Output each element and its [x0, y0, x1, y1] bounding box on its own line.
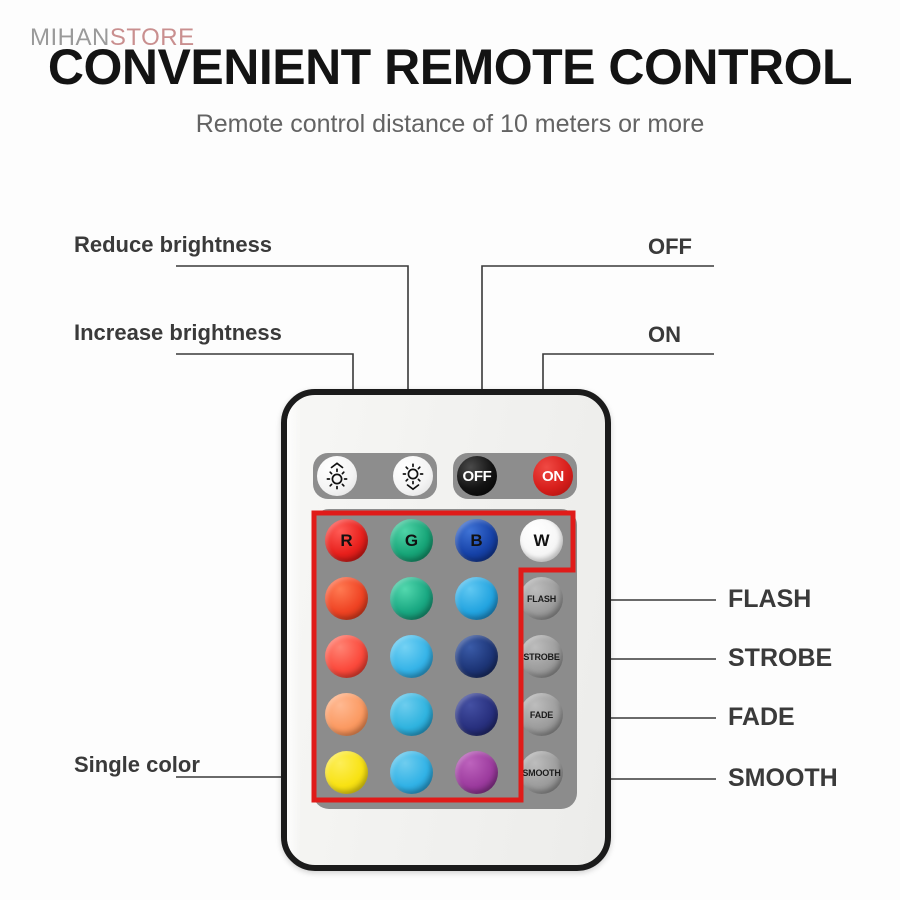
- color-button-b[interactable]: B: [455, 519, 498, 562]
- color-grid-key-r1c1[interactable]: [325, 577, 368, 620]
- function-button-flash[interactable]: FLASH: [520, 577, 563, 620]
- callout-smooth: SMOOTH: [728, 764, 838, 793]
- color-grid-key-r4c2[interactable]: [390, 751, 433, 794]
- remote-control-body: OFF ON R G B W FLASH STROBE FADE SMOOTH: [281, 389, 611, 871]
- callout-increase-brightness: Increase brightness: [74, 320, 282, 346]
- function-button-flash-label: FLASH: [527, 594, 556, 604]
- power-off-label: OFF: [462, 468, 491, 485]
- page-title: CONVENIENT REMOTE CONTROL: [0, 42, 900, 92]
- color-grid-key-r4c3[interactable]: [455, 751, 498, 794]
- function-button-strobe[interactable]: STROBE: [520, 635, 563, 678]
- brightness-down-button[interactable]: [393, 456, 433, 496]
- function-button-smooth[interactable]: SMOOTH: [520, 751, 563, 794]
- callout-strobe: STROBE: [728, 644, 832, 673]
- callout-reduce-brightness: Reduce brightness: [74, 232, 272, 258]
- power-on-button[interactable]: ON: [533, 456, 573, 496]
- color-button-w[interactable]: W: [520, 519, 563, 562]
- power-button-pod: OFF ON: [453, 453, 577, 499]
- brightness-button-pod: [313, 453, 437, 499]
- power-off-button[interactable]: OFF: [457, 456, 497, 496]
- sun-up-icon: [322, 461, 352, 491]
- color-grid-key-r2c3[interactable]: [455, 635, 498, 678]
- color-grid-key-r2c2[interactable]: [390, 635, 433, 678]
- color-button-g-label: G: [405, 531, 418, 551]
- callout-flash: FLASH: [728, 585, 811, 614]
- color-button-r-label: R: [340, 531, 352, 551]
- page-subtitle: Remote control distance of 10 meters or …: [0, 110, 900, 139]
- keypad-panel: R G B W FLASH STROBE FADE SMOOTH: [313, 509, 577, 809]
- color-grid-key-r1c2[interactable]: [390, 577, 433, 620]
- sun-down-icon: [398, 461, 428, 491]
- color-grid-key-r1c3[interactable]: [455, 577, 498, 620]
- color-grid-key-r3c1[interactable]: [325, 693, 368, 736]
- function-button-fade[interactable]: FADE: [520, 693, 563, 736]
- function-button-smooth-label: SMOOTH: [522, 768, 560, 778]
- callout-off: OFF: [648, 234, 692, 260]
- callout-fade: FADE: [728, 703, 795, 732]
- function-button-strobe-label: STROBE: [523, 652, 559, 662]
- callout-on: ON: [648, 322, 681, 348]
- power-on-label: ON: [542, 468, 564, 485]
- color-grid-key-r2c1[interactable]: [325, 635, 368, 678]
- color-grid-key-r3c3[interactable]: [455, 693, 498, 736]
- color-grid-key-r3c2[interactable]: [390, 693, 433, 736]
- function-button-fade-label: FADE: [530, 710, 553, 720]
- color-grid-key-r4c1[interactable]: [325, 751, 368, 794]
- color-button-w-label: W: [533, 531, 549, 551]
- callout-single-color: Single color: [74, 752, 200, 778]
- color-button-b-label: B: [470, 531, 482, 551]
- brightness-up-button[interactable]: [317, 456, 357, 496]
- color-button-g[interactable]: G: [390, 519, 433, 562]
- color-button-r[interactable]: R: [325, 519, 368, 562]
